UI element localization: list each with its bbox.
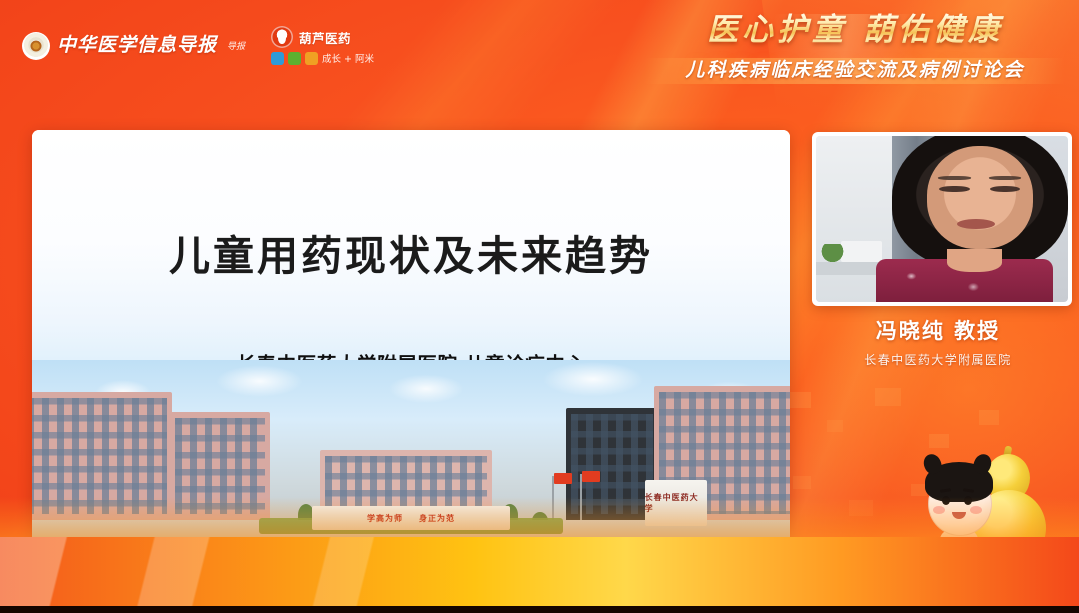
webinar-screen: 中华医学信息导报 导报 葫芦医药 成长 + 阿米 医心护童葫佑健康 儿科疾病临床… [0, 0, 1079, 613]
slide-title: 儿童用药现状及未来趋势 [32, 222, 790, 282]
logo-primary-text: 中华医学信息导报 [57, 36, 217, 55]
gourd-drop-icon [271, 26, 293, 48]
video-person-face [927, 146, 1033, 249]
logo-sponsor-row-top: 葫芦医药 [271, 26, 374, 48]
logo-sponsor-tag: 成长 + 阿米 [322, 51, 374, 65]
logo-sponsor-name: 葫芦医药 [299, 28, 351, 47]
speaker-video-feed[interactable] [816, 136, 1068, 302]
speaker-name: 冯晓纯 教授 [812, 315, 1064, 345]
campus-flag-2 [582, 471, 600, 482]
video-person-brow-right [989, 176, 1022, 180]
logo-sponsor-row-bottom: 成长 + 阿米 [271, 51, 374, 65]
green-chip-icon [288, 52, 301, 65]
video-person-brow-left [938, 176, 971, 180]
header-logos: 中华医学信息导报 导报 葫芦医药 成长 + 阿米 [22, 26, 374, 65]
campus-flag-1 [554, 473, 572, 484]
bottom-letterbox [0, 606, 1079, 613]
orange-chip-icon [305, 52, 318, 65]
logo-primary-suffix: 导报 [227, 39, 245, 52]
blue-chip-icon [271, 52, 284, 65]
speaker-video-panel[interactable] [812, 132, 1072, 306]
video-person-neck [947, 249, 1002, 272]
video-plant [821, 244, 844, 266]
logo-sponsor[interactable]: 葫芦医药 成长 + 阿米 [271, 26, 374, 65]
speaker-organization: 长春中医药大学附属医院 [812, 351, 1064, 368]
event-title: 医心护童葫佑健康 [645, 12, 1065, 49]
video-box-object [841, 241, 881, 263]
logo-china-medical-tribune[interactable]: 中华医学信息导报 导报 [22, 32, 245, 60]
speaker-caption: 冯晓纯 教授 长春中医药大学附属医院 [812, 315, 1064, 368]
event-title-block: 医心护童葫佑健康 儿科疾病临床经验交流及病例讨论会 [645, 12, 1065, 86]
presentation-slide[interactable]: 儿童用药现状及未来趋势 长春中医药大学附属医院 儿童诊疗中心 长春中医药大学附属… [32, 130, 790, 560]
event-subtitle-block: 儿科疾病临床经验交流及病例讨论会 [645, 56, 1065, 86]
medical-seal-icon [22, 32, 50, 60]
video-person-mouth [957, 219, 995, 229]
event-title-part2: 葫佑健康 [863, 12, 1003, 48]
bottom-gradient-band [0, 537, 1079, 607]
bottom-fade [0, 497, 1079, 537]
event-subtitle: 儿科疾病临床经验交流及病例讨论会 [645, 56, 1065, 84]
event-title-part1: 医心护童 [707, 12, 847, 48]
